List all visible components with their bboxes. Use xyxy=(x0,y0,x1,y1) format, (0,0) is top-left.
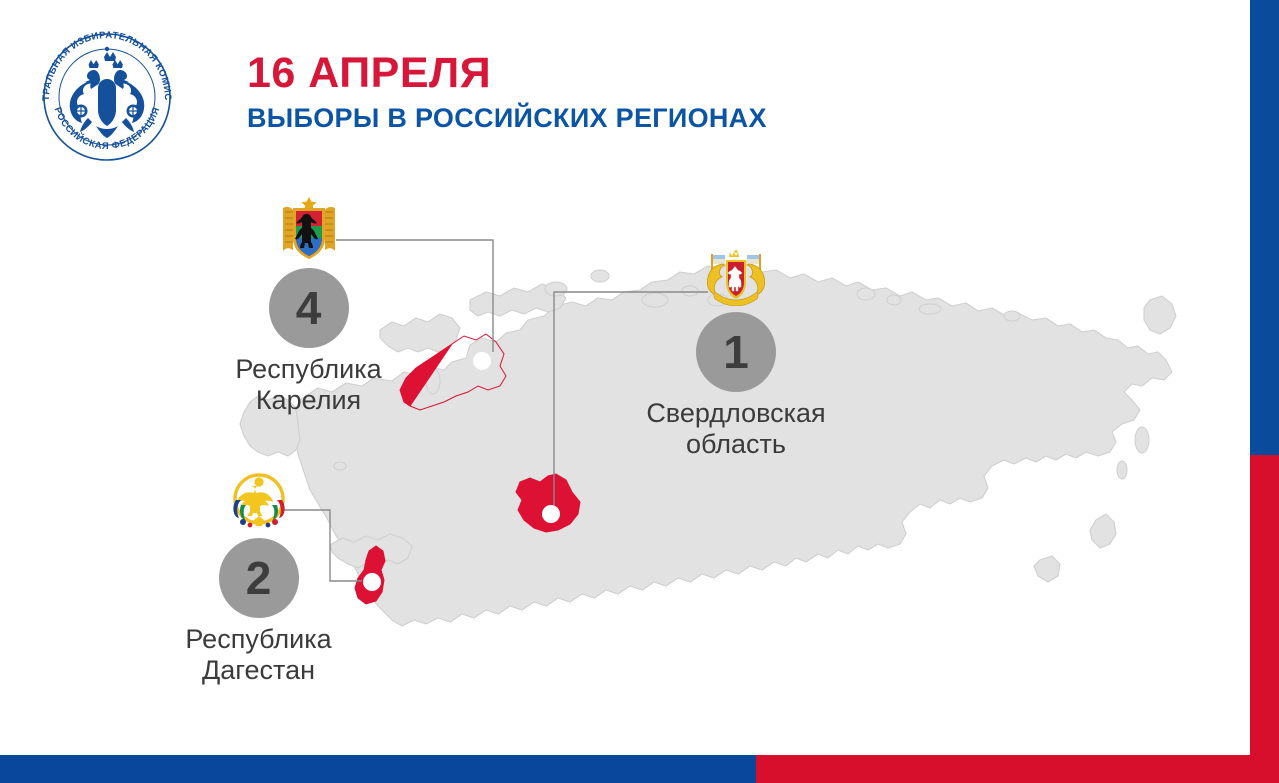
region-label-dagestan: Республика Дагестан xyxy=(116,624,401,686)
double-headed-eagle-icon xyxy=(70,47,145,138)
edge-accent-red xyxy=(1250,455,1279,783)
region-count-sverdlovsk: 1 xyxy=(696,312,776,392)
title-block: 16 АПРЕЛЯ ВЫБОРЫ В РОССИЙСКИХ РЕГИОНАХ xyxy=(247,52,767,132)
region-count-dagestan: 2 xyxy=(219,538,299,618)
sverdlovsk-coat-of-arms xyxy=(701,250,771,306)
bottom-accent-blue xyxy=(0,755,756,783)
region-marker-karelia[interactable]: 4 Республика Карелия xyxy=(166,196,451,416)
infographic-root: ЦЕНТРАЛЬНАЯ ИЗБИРАТЕЛЬНАЯ КОМИССИЯ РОССИ… xyxy=(0,0,1279,783)
edge-accent-blue xyxy=(1250,0,1279,455)
dagestan-coat-of-arms xyxy=(226,472,292,532)
region-count-karelia: 4 xyxy=(269,268,349,348)
region-dot-sverdlovsk xyxy=(542,505,560,523)
karelia-coat-of-arms xyxy=(279,196,339,262)
page-title-date: 16 АПРЕЛЯ xyxy=(247,52,767,95)
region-label-karelia: Республика Карелия xyxy=(166,354,451,416)
cec-russia-emblem: ЦЕНТРАЛЬНАЯ ИЗБИРАТЕЛЬНАЯ КОМИССИЯ РОССИ… xyxy=(36,22,178,170)
bottom-accent-red xyxy=(756,755,1279,783)
region-marker-sverdlovsk[interactable]: 1 Свердловская область xyxy=(586,250,886,460)
page-subtitle: ВЫБОРЫ В РОССИЙСКИХ РЕГИОНАХ xyxy=(247,105,767,132)
region-dot-karelia xyxy=(473,352,491,370)
region-label-sverdlovsk: Свердловская область xyxy=(586,398,886,460)
region-marker-dagestan[interactable]: 2 Республика Дагестан xyxy=(116,472,401,686)
